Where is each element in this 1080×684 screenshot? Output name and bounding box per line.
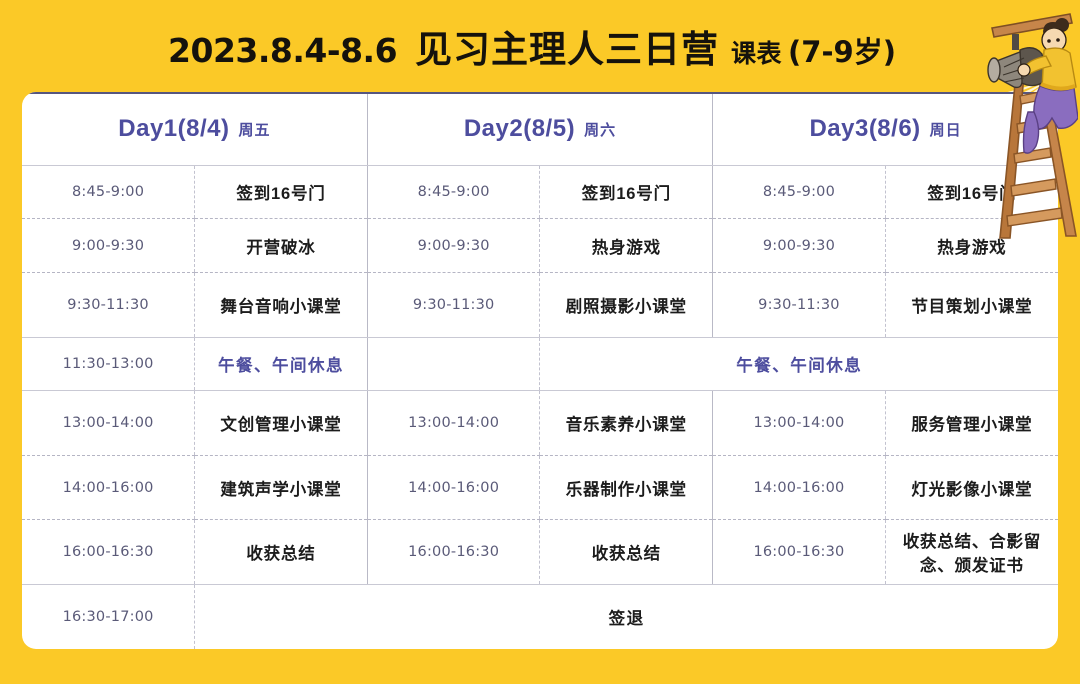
schedule-table: Day1(8/4)周五 Day2(8/5)周六 Day3(8/6)周日 8:45… bbox=[22, 92, 1058, 649]
day1-label: Day1(8/4) bbox=[118, 115, 229, 142]
activity-cell: 收获总结 bbox=[195, 520, 368, 585]
activity-cell: 热身游戏 bbox=[885, 219, 1058, 273]
table-row: 16:00-16:30 收获总结 16:00-16:30 收获总结 16:00-… bbox=[22, 520, 1058, 585]
time-cell: 14:00-16:00 bbox=[367, 455, 540, 520]
table-row-lunch: 11:30-13:00 午餐、午间休息 午餐、午间休息 bbox=[22, 337, 1058, 391]
time-cell: 9:30-11:30 bbox=[367, 273, 540, 338]
table-row: 14:00-16:00 建筑声学小课堂 14:00-16:00 乐器制作小课堂 … bbox=[22, 455, 1058, 520]
time-cell: 8:45-9:00 bbox=[367, 165, 540, 219]
table-row: 13:00-14:00 文创管理小课堂 13:00-14:00 音乐素养小课堂 … bbox=[22, 391, 1058, 456]
day3-label: Day3(8/6) bbox=[809, 115, 920, 142]
title-age-range: (7-9岁) bbox=[788, 29, 896, 71]
time-cell: 8:45-9:00 bbox=[22, 165, 195, 219]
activity-cell: 文创管理小课堂 bbox=[195, 391, 368, 456]
table-row: 9:30-11:30 舞台音响小课堂 9:30-11:30 剧照摄影小课堂 9:… bbox=[22, 273, 1058, 338]
activity-cell: 服务管理小课堂 bbox=[885, 391, 1058, 456]
time-cell: 14:00-16:00 bbox=[713, 455, 886, 520]
table-row-signout: 16:30-17:00 签退 bbox=[22, 584, 1058, 649]
time-cell: 9:00-9:30 bbox=[713, 219, 886, 273]
activity-cell: 收获总结、合影留念、颁发证书 bbox=[885, 520, 1058, 585]
activity-cell: 灯光影像小课堂 bbox=[885, 455, 1058, 520]
time-cell: 16:30-17:00 bbox=[22, 584, 195, 649]
time-cell: 9:00-9:30 bbox=[22, 219, 195, 273]
day2-weekday: 周六 bbox=[584, 122, 616, 139]
schedule-table-header: Day1(8/4)周五 Day2(8/5)周六 Day3(8/6)周日 bbox=[22, 93, 1058, 165]
time-cell: 16:00-16:30 bbox=[713, 520, 886, 585]
activity-cell: 签到16号门 bbox=[885, 165, 1058, 219]
time-cell: 14:00-16:00 bbox=[22, 455, 195, 520]
time-cell: 11:30-13:00 bbox=[22, 337, 195, 391]
page-title-bar: 2023.8.4-8.6 见习主理人三日营 课表 (7-9岁) bbox=[0, 0, 1080, 92]
time-cell: 16:00-16:30 bbox=[367, 520, 540, 585]
title-camp-name: 见习主理人三日营 bbox=[415, 19, 719, 73]
day-header-row: Day1(8/4)周五 Day2(8/5)周六 Day3(8/6)周日 bbox=[22, 93, 1058, 165]
activity-cell-signout: 签退 bbox=[195, 584, 1058, 649]
time-cell: 9:30-11:30 bbox=[713, 273, 886, 338]
activity-cell: 收获总结 bbox=[540, 520, 713, 585]
time-cell: 9:00-9:30 bbox=[367, 219, 540, 273]
day-header-day3: Day3(8/6)周日 bbox=[713, 93, 1058, 165]
activity-cell: 签到16号门 bbox=[540, 165, 713, 219]
activity-cell-lunch-shared: 午餐、午间休息 bbox=[540, 337, 1058, 391]
day3-weekday: 周日 bbox=[930, 122, 962, 139]
lunch-spacer-cell bbox=[367, 337, 540, 391]
activity-cell-lunch-day1: 午餐、午间休息 bbox=[195, 337, 368, 391]
time-cell: 16:00-16:30 bbox=[22, 520, 195, 585]
activity-cell: 剧照摄影小课堂 bbox=[540, 273, 713, 338]
page-title: 2023.8.4-8.6 见习主理人三日营 课表 (7-9岁) bbox=[168, 19, 896, 73]
title-date-range: 2023.8.4-8.6 bbox=[168, 31, 397, 70]
activity-cell: 节目策划小课堂 bbox=[885, 273, 1058, 338]
activity-cell: 开营破冰 bbox=[195, 219, 368, 273]
activity-cell: 热身游戏 bbox=[540, 219, 713, 273]
activity-cell: 签到16号门 bbox=[195, 165, 368, 219]
time-cell: 8:45-9:00 bbox=[713, 165, 886, 219]
activity-cell: 音乐素养小课堂 bbox=[540, 391, 713, 456]
schedule-card: Day1(8/4)周五 Day2(8/5)周六 Day3(8/6)周日 8:45… bbox=[22, 92, 1058, 649]
activity-cell: 乐器制作小课堂 bbox=[540, 455, 713, 520]
day1-weekday: 周五 bbox=[239, 122, 271, 139]
table-row: 9:00-9:30 开营破冰 9:00-9:30 热身游戏 9:00-9:30 … bbox=[22, 219, 1058, 273]
day2-label: Day2(8/5) bbox=[464, 115, 575, 142]
schedule-table-body: 8:45-9:00 签到16号门 8:45-9:00 签到16号门 8:45-9… bbox=[22, 165, 1058, 649]
activity-cell: 建筑声学小课堂 bbox=[195, 455, 368, 520]
time-cell: 13:00-14:00 bbox=[22, 391, 195, 456]
time-cell: 9:30-11:30 bbox=[22, 273, 195, 338]
time-cell: 13:00-14:00 bbox=[713, 391, 886, 456]
day-header-day1: Day1(8/4)周五 bbox=[22, 93, 367, 165]
activity-cell: 舞台音响小课堂 bbox=[195, 273, 368, 338]
table-row: 8:45-9:00 签到16号门 8:45-9:00 签到16号门 8:45-9… bbox=[22, 165, 1058, 219]
time-cell: 13:00-14:00 bbox=[367, 391, 540, 456]
day-header-day2: Day2(8/5)周六 bbox=[367, 93, 712, 165]
title-doc-type: 课表 bbox=[731, 34, 782, 70]
